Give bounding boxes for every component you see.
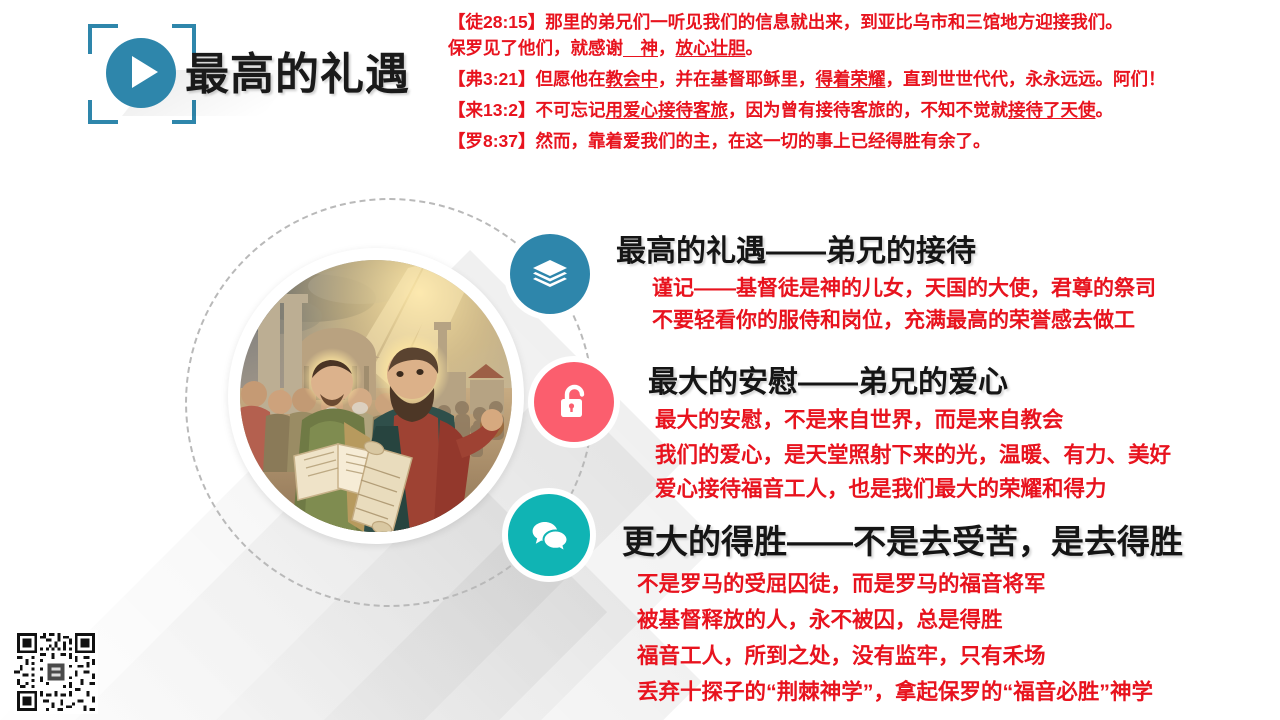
section-1-line-1: 谨记——基督徒是神的儿女，天国的大使，君尊的祭司 <box>652 274 1156 304</box>
section-2-heading: 最大的安慰——弟兄的爱心 <box>648 357 1008 401</box>
chat-bubbles-icon <box>508 494 590 576</box>
scripture-line-1: 【徒28:15】那里的弟兄们一听见我们的信息就出来，到亚比乌市和三馆地方迎接我们… <box>448 10 1276 62</box>
section-3-line-3: 福音工人，所到之处，没有监牢，只有禾场 <box>637 640 1153 674</box>
scripture-block: 【徒28:15】那里的弟兄们一听见我们的信息就出来，到亚比乌市和三馆地方迎接我们… <box>448 10 1276 159</box>
illustration-photo <box>240 260 512 532</box>
brand-logo <box>88 24 196 124</box>
section-1-line-2: 不要轻看你的服侍和岗位，充满最高的荣誉感去做工 <box>652 306 1156 336</box>
section-3-heading: 更大的得胜——不是去受苦，是去得胜 <box>622 515 1183 563</box>
qr-code[interactable] <box>14 630 98 714</box>
scripture-line-3: 【来13:2】不可忘记用爱心接待客旅，因为曾有接待客旅的，不知不觉就接待了天使。 <box>448 98 1276 124</box>
section-3-line-2: 被基督释放的人，永不被囚，总是得胜 <box>637 604 1153 638</box>
section-1-lines: 谨记——基督徒是神的儿女，天国的大使，君尊的祭司 不要轻看你的服侍和岗位，充满最… <box>652 274 1156 338</box>
section-2-icon-node[interactable] <box>528 356 620 448</box>
section-2-line-2: 我们的爱心，是天堂照射下来的光，温暖、有力、美好 <box>655 439 1171 472</box>
scripture-line-4: 【罗8:37】然而，靠着爱我们的主，在这一切的事上已经得胜有余了。 <box>448 129 1276 155</box>
section-2-line-3: 爱心接待福音工人，也是我们最大的荣耀和得力 <box>655 473 1171 506</box>
layers-icon <box>510 234 590 314</box>
section-2-line-1: 最大的安慰，不是来自世界，而是来自教会 <box>655 404 1171 437</box>
section-3-icon-node[interactable] <box>502 488 596 582</box>
section-2-lines: 最大的安慰，不是来自世界，而是来自教会 我们的爱心，是天堂照射下来的光，温暖、有… <box>655 404 1171 508</box>
section-3-line-1: 不是罗马的受屈囚徒，而是罗马的福音将军 <box>637 568 1153 602</box>
play-triangle-icon <box>132 56 158 88</box>
section-3-line-4: 丢弃十探子的“荆棘神学”，拿起保罗的“福音必胜”神学 <box>637 676 1153 710</box>
scripture-line-2: 【弗3:21】但愿他在教会中，并在基督耶稣里，得着荣耀，直到世世代代，永永远远。… <box>448 67 1276 93</box>
section-1-icon-node[interactable] <box>504 228 596 320</box>
unlock-icon <box>534 362 614 442</box>
slide-canvas: 最高的礼遇 【徒28:15】那里的弟兄们一听见我们的信息就出来，到亚比乌市和三馆… <box>0 0 1280 720</box>
section-1-heading: 最高的礼遇——弟兄的接待 <box>616 226 976 270</box>
section-3-lines: 不是罗马的受屈囚徒，而是罗马的福音将军 被基督释放的人，永不被囚，总是得胜 福音… <box>637 568 1153 712</box>
